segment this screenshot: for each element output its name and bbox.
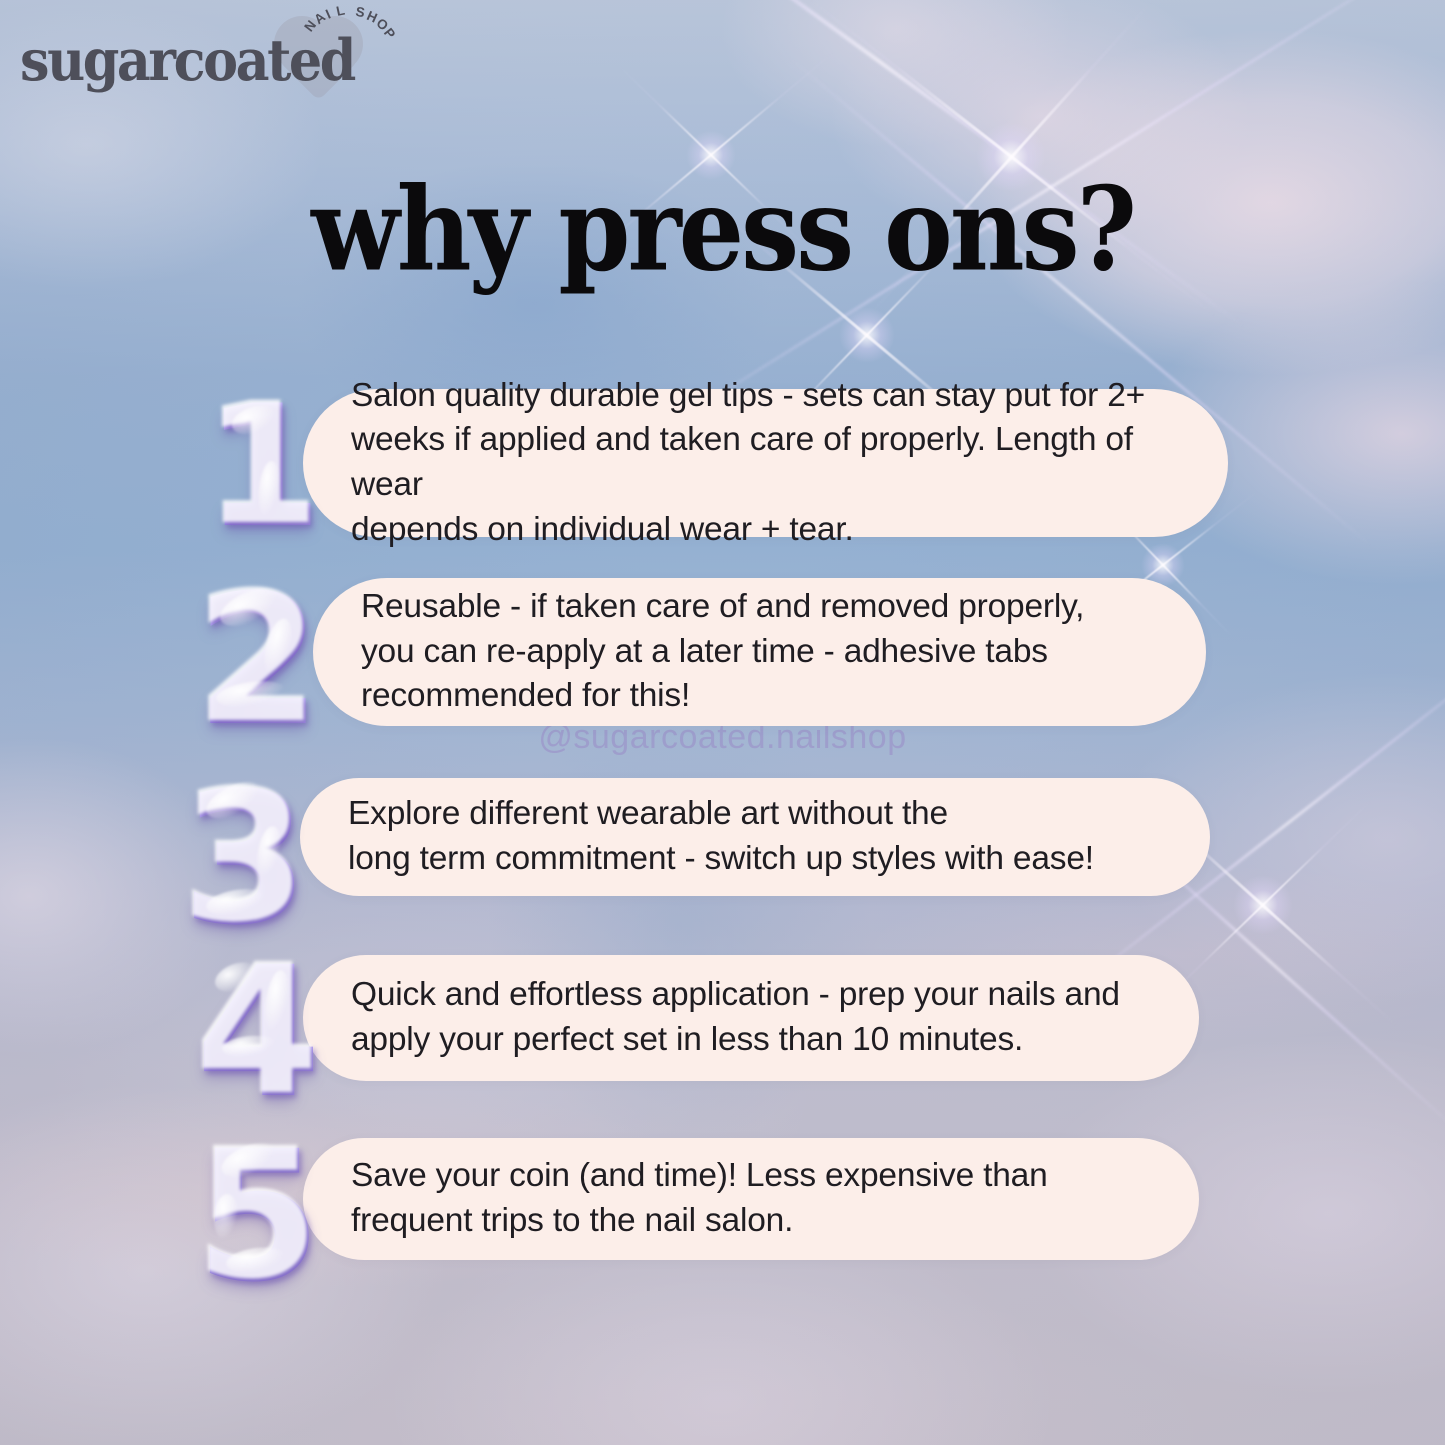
benefit-card-2: Reusable - if taken care of and removed …	[313, 578, 1206, 726]
balloon-number-5-glyph: 5	[196, 1128, 321, 1308]
balloon-number-4: 4	[196, 944, 321, 1124]
page-title: why press ons?	[0, 172, 1445, 287]
balloon-number-1-glyph: 1	[205, 383, 322, 551]
benefit-card-5: Save your coin (and time)! Less expensiv…	[303, 1138, 1199, 1260]
balloon-number-3-glyph: 3	[182, 768, 309, 950]
benefit-card-3: Explore different wearable art without t…	[300, 778, 1210, 896]
benefit-card-1: Salon quality durable gel tips - sets ca…	[303, 389, 1228, 537]
balloon-number-2-glyph: 2	[196, 572, 321, 752]
balloon-number-2: 2	[196, 572, 321, 752]
brand-logo[interactable]: sugarcoated N A I L S H O P	[12, 2, 392, 112]
balloon-number-3: 3	[182, 768, 309, 950]
logo-tagline-arc: N A I L S H O P	[288, 2, 406, 120]
benefit-card-4: Quick and effortless application - prep …	[303, 955, 1199, 1081]
benefit-text-5: Save your coin (and time)! Less expensiv…	[351, 1154, 1048, 1243]
benefit-text-4: Quick and effortless application - prep …	[351, 973, 1120, 1062]
benefit-text-3: Explore different wearable art without t…	[348, 792, 1094, 881]
benefit-text-2: Reusable - if taken care of and removed …	[361, 585, 1084, 719]
balloon-number-1: 1	[205, 383, 322, 551]
infographic-canvas: sugarcoated N A I L S H O P why press on…	[0, 0, 1445, 1445]
balloon-number-5: 5	[196, 1128, 321, 1308]
balloon-number-4-glyph: 4	[196, 944, 321, 1124]
benefit-text-1: Salon quality durable gel tips - sets ca…	[351, 374, 1180, 552]
